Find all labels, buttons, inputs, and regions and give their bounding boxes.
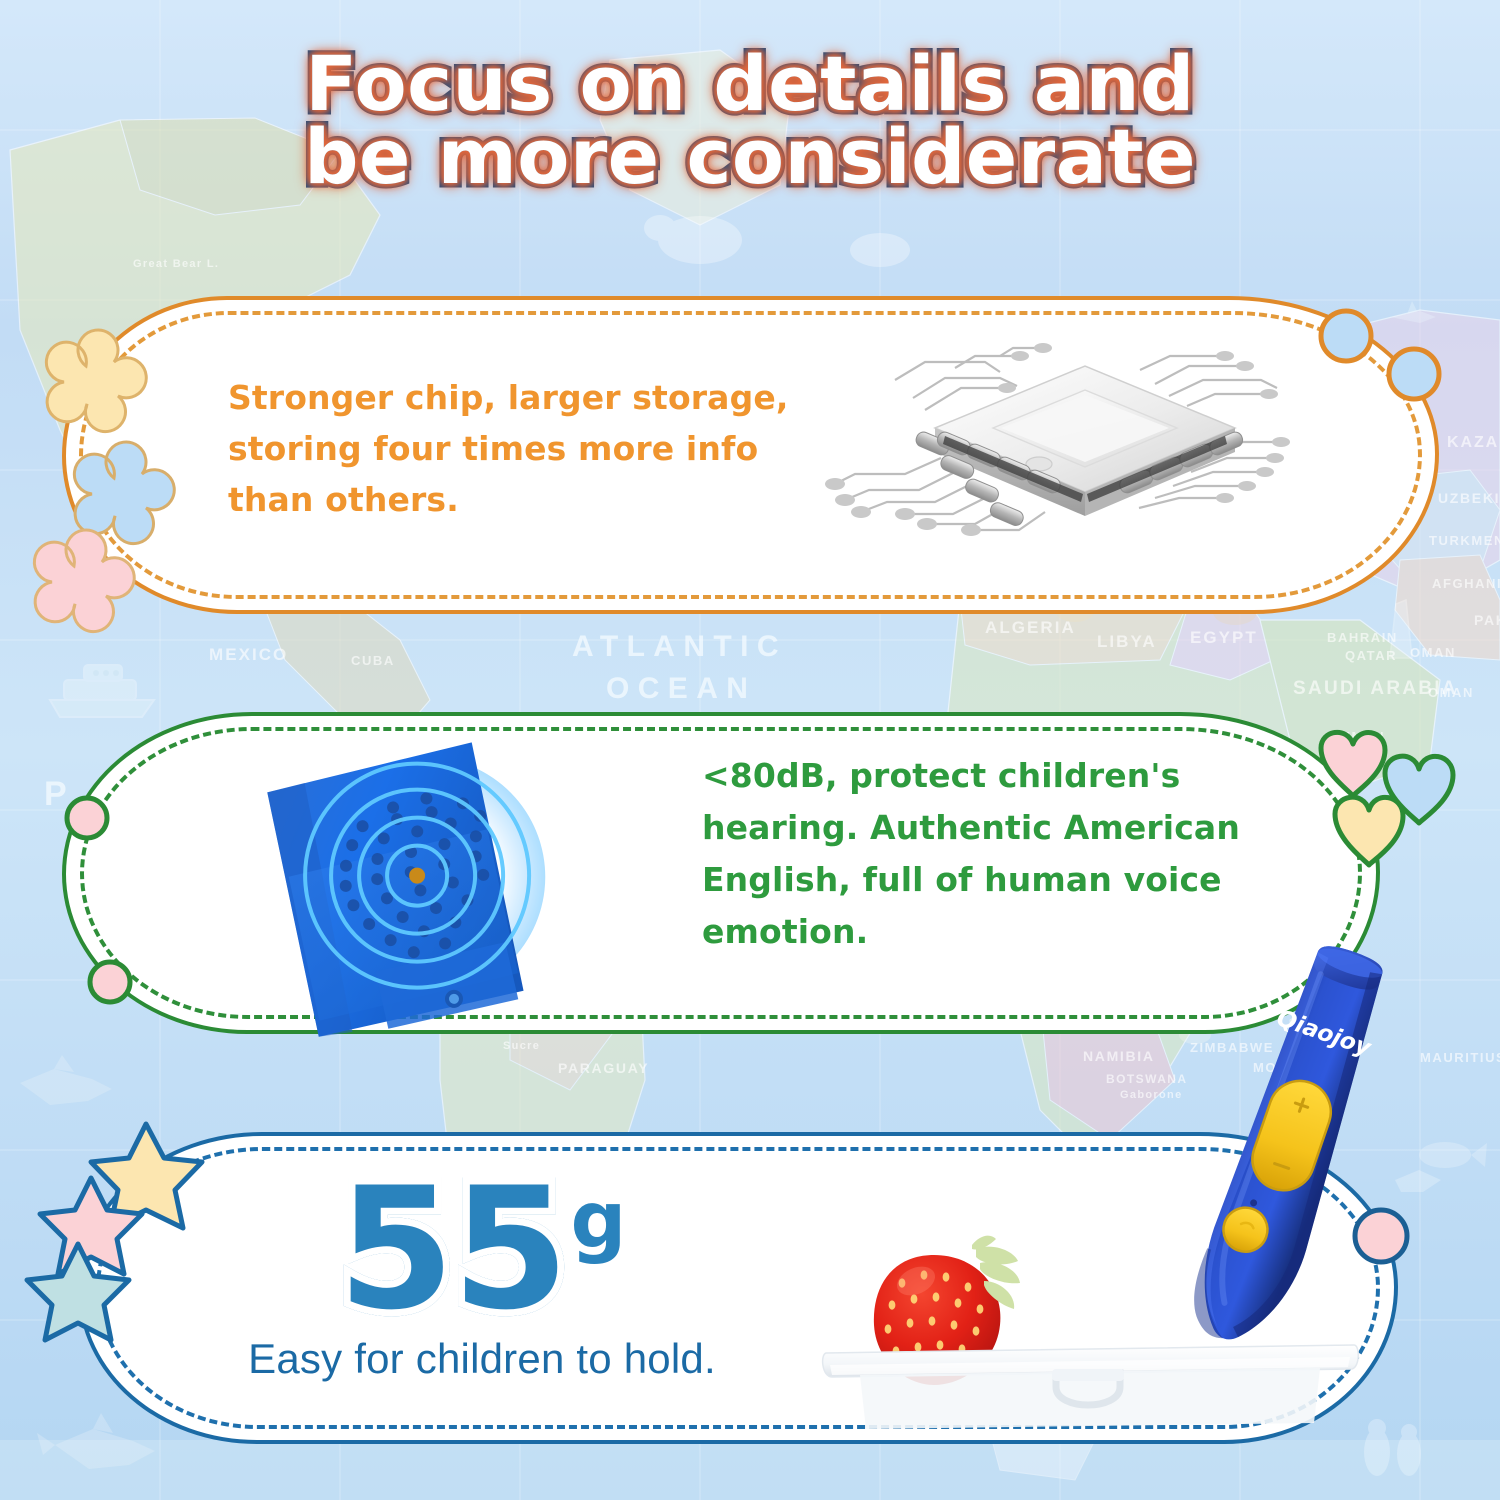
reading-pen: Qiaojoy bbox=[1155, 945, 1455, 1365]
weight-callout: 55 g Easy for children to hold. bbox=[212, 1172, 752, 1383]
weight-unit: g bbox=[570, 1182, 626, 1260]
microchip-image bbox=[795, 340, 1295, 590]
weight-value: 55 bbox=[338, 1172, 567, 1327]
card-sound-text: <80dB, protect children's hearing. Authe… bbox=[702, 750, 1282, 959]
card-chip-text: Stronger chip, larger storage, storing f… bbox=[228, 372, 828, 525]
speaker-image bbox=[248, 736, 578, 1036]
